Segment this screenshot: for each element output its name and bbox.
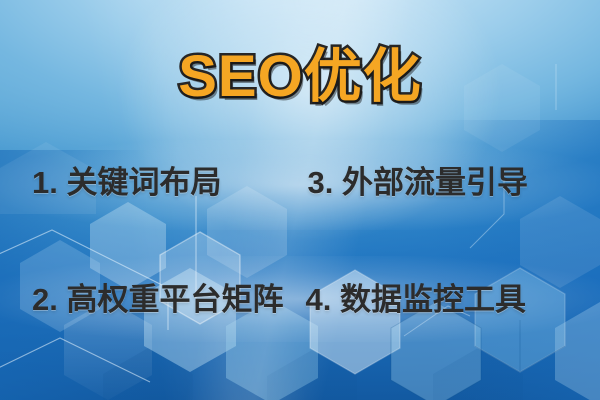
list-item-3: 3. 外部流量引导 [307,157,527,202]
list-item-3-label: 外部流量引导 [342,165,528,200]
items-row-2: 2. 高权重平台矩阵 4. 数据监控工具 [0,272,600,320]
list-item-2-number: 2. [32,282,58,317]
poster-title-container: SEO优化 [0,47,600,108]
poster-title: SEO优化 [178,47,422,108]
list-item-3-number: 3. [307,165,333,200]
seo-poster: SEO优化 1. 关键词布局 3. 外部流量引导 2. 高权重平台矩阵 4. 数… [0,0,600,400]
list-item-1-label: 关键词布局 [66,165,221,200]
list-item-4-number: 4. [305,282,331,317]
list-item-2-label: 高权重平台矩阵 [66,282,283,317]
list-item-1: 1. 关键词布局 [32,157,221,202]
list-item-4-label: 数据监控工具 [340,282,526,317]
list-item-1-number: 1. [32,165,58,200]
items-row-1: 1. 关键词布局 3. 外部流量引导 [0,155,600,203]
list-item-2: 2. 高权重平台矩阵 [32,274,283,319]
list-item-4: 4. 数据监控工具 [305,274,525,319]
